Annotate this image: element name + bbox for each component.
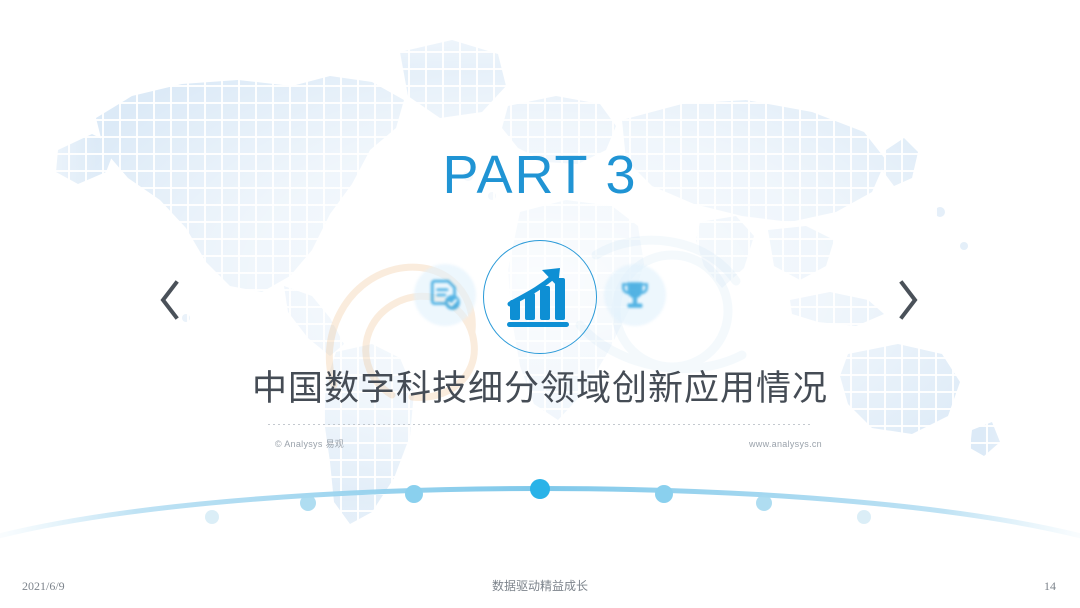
progress-dot-active[interactable] <box>530 479 550 499</box>
section-subtitle: 中国数字科技细分领域创新应用情况 <box>0 368 1080 409</box>
website-label: www.analysys.cn <box>749 439 822 449</box>
copyright-label: © Analysys 易观 <box>275 437 344 450</box>
prev-slide-button[interactable] <box>148 272 192 328</box>
progress-dot[interactable] <box>300 495 316 511</box>
chevron-right-icon <box>895 279 921 321</box>
footer-page-number: 14 <box>1044 579 1056 594</box>
next-slide-button[interactable] <box>886 272 930 328</box>
page-title: PART 3 <box>0 148 1080 202</box>
title-divider <box>268 424 813 425</box>
document-check-icon <box>414 264 476 326</box>
progress-dot[interactable] <box>857 510 871 524</box>
progress-dot[interactable] <box>756 495 772 511</box>
progress-dot[interactable] <box>405 485 423 503</box>
progress-dot-group <box>205 479 871 524</box>
chevron-left-icon <box>157 279 183 321</box>
progress-dot[interactable] <box>205 510 219 524</box>
footer-tagline: 数据驱动精益成长 <box>0 577 1080 594</box>
progress-arc <box>0 455 1080 550</box>
slide-canvas: PART 3 <box>0 0 1080 608</box>
bar-chart-growth-icon <box>483 240 597 354</box>
trophy-icon <box>604 264 666 326</box>
progress-dot[interactable] <box>655 485 673 503</box>
section-icon-cluster <box>410 240 670 358</box>
